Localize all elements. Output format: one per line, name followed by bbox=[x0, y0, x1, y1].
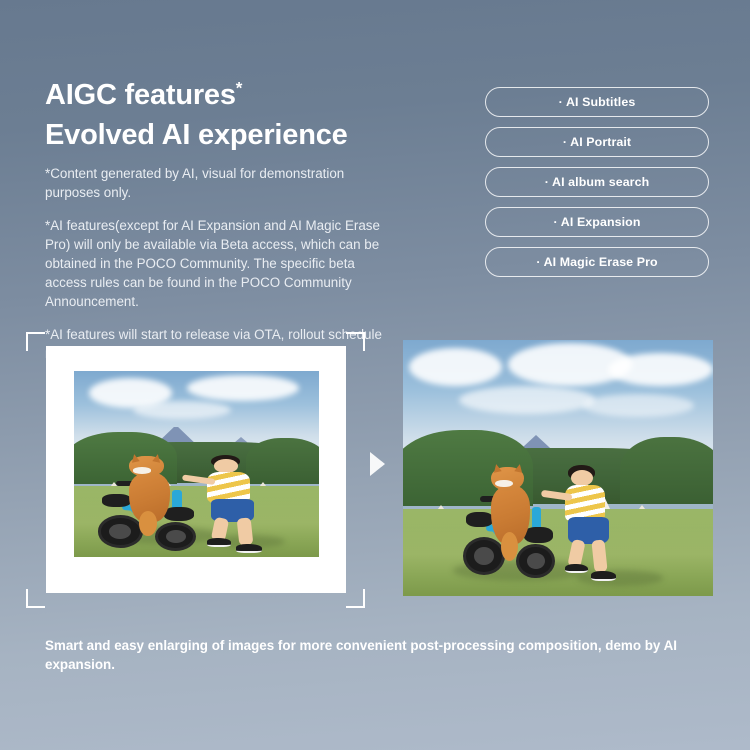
trike-rear-basket bbox=[466, 512, 493, 527]
comparison-caption: Smart and easy enlarging of images for m… bbox=[45, 636, 701, 675]
corner-bracket-top-left-icon bbox=[26, 332, 45, 351]
photo-scene-after bbox=[403, 340, 713, 596]
trike-rear-basket bbox=[102, 494, 131, 506]
trike-front-basket bbox=[524, 527, 553, 543]
boy-shoe-front bbox=[236, 544, 263, 552]
photo-scene-before bbox=[74, 371, 319, 557]
after-photo bbox=[403, 340, 713, 596]
boy-shoe-rear bbox=[565, 564, 588, 574]
corner-bracket-bottom-right-icon bbox=[346, 589, 365, 608]
boy-head bbox=[214, 459, 238, 473]
subject-group bbox=[94, 453, 300, 557]
arrow-right-icon bbox=[370, 452, 385, 476]
cloud bbox=[608, 353, 713, 386]
corner-bracket-bottom-left-icon bbox=[26, 589, 45, 608]
boy-head bbox=[571, 470, 593, 486]
boy-shoe-front bbox=[591, 571, 616, 581]
cloud bbox=[133, 401, 231, 420]
trike-wheel-rear bbox=[98, 515, 143, 547]
cloud bbox=[409, 348, 502, 386]
subject-group bbox=[459, 463, 651, 586]
boy-leg-front bbox=[592, 540, 609, 573]
cloud bbox=[187, 375, 300, 401]
corner-bracket-top-right-icon bbox=[346, 332, 365, 351]
trike-wheel-rear bbox=[463, 537, 505, 575]
boy-leg-front bbox=[236, 518, 253, 546]
trike-wheel-front bbox=[155, 522, 196, 551]
trike-front-basket bbox=[164, 507, 195, 521]
dog-ear-left bbox=[130, 453, 139, 462]
boy-shoe-rear bbox=[207, 538, 232, 546]
cloud bbox=[583, 394, 695, 417]
dog-ear-right bbox=[514, 463, 523, 472]
dog-snout bbox=[133, 467, 152, 473]
trike-wheel-front bbox=[516, 544, 554, 578]
before-photo bbox=[74, 371, 319, 557]
